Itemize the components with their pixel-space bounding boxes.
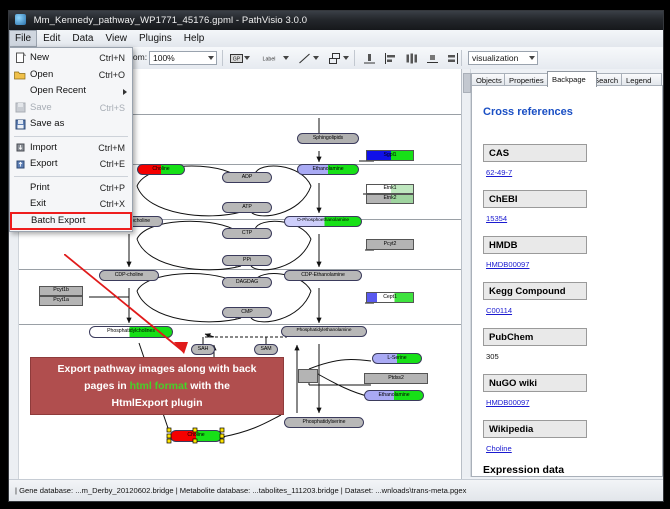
screenshot-frame: Mm_Kennedy_pathway_WP1771_45176.gpml - P…	[0, 0, 670, 509]
menu-item-label: New	[30, 50, 99, 67]
menu-item-print[interactable]: Print Ctrl+P	[10, 180, 132, 197]
menu-item-new[interactable]: New Ctrl+N	[10, 50, 132, 67]
toolbar-separator	[461, 50, 462, 66]
expression-data-heading: Expression data	[483, 464, 564, 476]
line-dropdown-arrow[interactable]	[313, 56, 319, 60]
side-panel-scrollbar[interactable]	[462, 69, 471, 477]
xref-value-chebi[interactable]: 15354	[486, 214, 507, 223]
pathway-node-choline[interactable]: Choline	[137, 164, 185, 175]
gene-node-etnk1[interactable]: Etnk1	[366, 184, 414, 194]
new-file-icon	[10, 50, 30, 66]
menu-item-label: Exit	[30, 196, 100, 213]
gene-node-cept1[interactable]: Cept1	[366, 292, 414, 303]
menu-item-accel: Ctrl+S	[100, 100, 132, 117]
menu-item-batch-export[interactable]: Batch Export	[11, 213, 131, 230]
xref-value-pubchem: 305	[486, 352, 499, 361]
label-tool-icon[interactable]: Label	[257, 50, 281, 66]
menu-item-accel: Ctrl+O	[99, 67, 132, 84]
menu-item-import[interactable]: Import Ctrl+M	[10, 140, 132, 157]
menu-item-label: Open Recent	[30, 83, 132, 100]
xref-value-hmdb[interactable]: HMDB00097	[486, 260, 529, 269]
menu-item-accel: Ctrl+E	[100, 156, 132, 173]
menu-item-export[interactable]: Export Ctrl+E	[10, 156, 132, 173]
svg-text:GP: GP	[232, 56, 240, 62]
menu-item-open-recent[interactable]: Open Recent	[10, 83, 132, 100]
distribute-horizontal-icon[interactable]	[403, 50, 419, 66]
xref-label-cas: CAS	[483, 144, 587, 162]
pathway-node-adp[interactable]: ADP	[222, 172, 272, 183]
chevron-down-icon	[529, 56, 535, 60]
menu-separator	[14, 176, 128, 177]
pathway-block-node[interactable]	[298, 369, 318, 383]
pathway-node-ethanolamine-bottom[interactable]: Ethanolamine	[364, 390, 424, 401]
callout-line1: Export pathway images along with back	[58, 363, 257, 375]
menu-item-label: Import	[30, 140, 98, 157]
pathway-node-phosphatidylethanolamine[interactable]: Phosphatidylethanolamine	[281, 326, 367, 337]
menu-item-open[interactable]: Open Ctrl+O	[10, 67, 132, 84]
gene-node-pcyt2[interactable]: Pcyt2	[366, 239, 414, 250]
blank-icon	[11, 213, 31, 229]
pathway-node-ctp[interactable]: CTP	[222, 228, 272, 239]
import-icon	[10, 140, 30, 156]
status-bar-text: | Gene database: ...m_Derby_20120602.bri…	[15, 484, 466, 498]
cross-references-heading: Cross references	[483, 106, 573, 118]
gene-node-ptdss2[interactable]: Ptdss2	[364, 373, 428, 384]
menu-plugins[interactable]: Plugins	[133, 30, 178, 47]
chevron-down-icon	[208, 56, 214, 60]
visualization-combo[interactable]: visualization	[468, 51, 538, 65]
menu-bar: FileEditDataViewPluginsHelp	[9, 30, 663, 48]
xref-value-cas[interactable]: 62-49-7	[486, 168, 512, 177]
menu-edit[interactable]: Edit	[37, 30, 66, 47]
callout-line2-highlight: html format	[130, 380, 188, 392]
export-icon	[10, 156, 30, 172]
menu-view[interactable]: View	[99, 30, 133, 47]
pathway-node-cdp-ethanolamine[interactable]: CDP-Ethanolamine	[284, 270, 362, 281]
side-panel: Objects Properties Backpage Search Legen…	[462, 69, 663, 479]
xref-label-nugo: NuGO wiki	[483, 374, 587, 392]
menu-item-accel: Ctrl+X	[100, 196, 132, 213]
pathvisio-window: Mm_Kennedy_pathway_WP1771_45176.gpml - P…	[8, 10, 664, 502]
blank-icon	[10, 83, 30, 99]
submenu-arrow-icon	[123, 89, 127, 95]
geneproduct-tool-icon[interactable]: GP	[228, 50, 244, 66]
xref-label-wikipedia: Wikipedia	[483, 420, 587, 438]
menu-item-accel: Ctrl+N	[99, 50, 132, 67]
callout-line2-a: pages in	[84, 380, 130, 392]
annotation-arrow	[64, 254, 244, 364]
menu-item-label: Save	[30, 100, 100, 117]
xref-label-chebi: ChEBI	[483, 190, 587, 208]
menu-item-exit[interactable]: Exit Ctrl+X	[10, 196, 132, 213]
geneproduct-dropdown-arrow[interactable]	[244, 56, 250, 60]
status-bar: | Gene database: ...m_Derby_20120602.bri…	[9, 479, 663, 502]
pathway-node-atp[interactable]: ATP	[222, 202, 272, 213]
menu-item-save-as[interactable]: Save as	[10, 116, 132, 133]
open-folder-icon	[10, 67, 30, 83]
menu-data[interactable]: Data	[66, 30, 99, 47]
selected-node-group[interactable]: Choline	[165, 427, 227, 444]
pathway-node-sam[interactable]: SAM	[254, 344, 278, 355]
save-as-icon	[10, 116, 30, 132]
menu-item-label: Batch Export	[31, 213, 131, 230]
xref-value-wikipedia[interactable]: Choline	[486, 444, 512, 453]
zoom-combo[interactable]: 100%	[149, 51, 217, 65]
pathway-node-phosphatidylserine[interactable]: Phosphatidylserine	[284, 417, 364, 428]
blank-icon	[10, 180, 30, 196]
callout-line2-b: with the	[187, 380, 230, 392]
zoom-value: 100%	[153, 53, 175, 63]
tab-backpage[interactable]: Backpage	[547, 71, 597, 87]
window-title: Mm_Kennedy_pathway_WP1771_45176.gpml - P…	[34, 15, 308, 26]
xref-value-kegg[interactable]: C00114	[486, 306, 512, 315]
menu-item-label: Save as	[30, 116, 125, 133]
save-icon	[10, 100, 30, 116]
backpage-content: Cross references CAS 62-49-7 ChEBI 15354…	[471, 85, 663, 477]
menu-item-label: Export	[30, 156, 100, 173]
pathway-node-sphingolipids[interactable]: Sphingolipids	[297, 133, 359, 144]
xref-value-nugo[interactable]: HMDB00097	[486, 398, 529, 407]
selection-handles[interactable]	[165, 427, 227, 444]
menu-item-label: Print	[30, 180, 100, 197]
gene-node-etnk2[interactable]: Etnk2	[366, 194, 414, 204]
toolbar-separator	[354, 50, 355, 66]
pathway-node-l-serine[interactable]: L-Serine	[372, 353, 422, 364]
pathway-node-ethanolamine[interactable]: Ethanolamine	[297, 164, 359, 175]
gene-node-sgpl1[interactable]: Sgpl1	[366, 150, 414, 161]
toolbar-separator	[222, 50, 223, 66]
line-tool-icon[interactable]	[296, 50, 312, 66]
menu-item-accel: Ctrl+M	[98, 140, 132, 157]
menu-help[interactable]: Help	[178, 30, 211, 47]
align-top-icon[interactable]	[361, 50, 377, 66]
side-panel-tabs: Objects Properties Backpage Search Legen…	[471, 71, 663, 86]
pathway-node-o-phosphoethanolamine[interactable]: O-Phosphoethanolamine	[284, 216, 362, 227]
xref-label-kegg: Kegg Compound	[483, 282, 587, 300]
shape-dropdown-arrow[interactable]	[343, 56, 349, 60]
label-dropdown-arrow[interactable]	[283, 56, 289, 60]
callout-line3: HtmlExport plugin	[112, 397, 203, 409]
app-icon	[15, 14, 26, 25]
align-bottom-icon[interactable]	[424, 50, 440, 66]
annotation-callout: Export pathway images along with back pa…	[30, 357, 284, 415]
svg-text:Label: Label	[263, 57, 276, 63]
menu-item-label: Open	[30, 67, 99, 84]
menu-separator	[14, 136, 128, 137]
window-title-bar: Mm_Kennedy_pathway_WP1771_45176.gpml - P…	[9, 11, 663, 30]
menu-item-accel: Ctrl+P	[100, 180, 132, 197]
align-left-icon[interactable]	[382, 50, 398, 66]
xref-label-hmdb: HMDB	[483, 236, 587, 254]
xref-label-pubchem: PubChem	[483, 328, 587, 346]
scrollbar-thumb[interactable]	[463, 73, 471, 93]
visualization-value: visualization	[472, 53, 518, 63]
menu-item-save: Save Ctrl+S	[10, 100, 132, 117]
menu-file[interactable]: File	[9, 30, 37, 47]
align-right-icon[interactable]	[445, 50, 461, 66]
shape-tool-icon[interactable]	[326, 50, 342, 66]
blank-icon	[10, 196, 30, 212]
file-menu-popup[interactable]: New Ctrl+N Open Ctrl+O Open Recent Save …	[9, 47, 133, 232]
